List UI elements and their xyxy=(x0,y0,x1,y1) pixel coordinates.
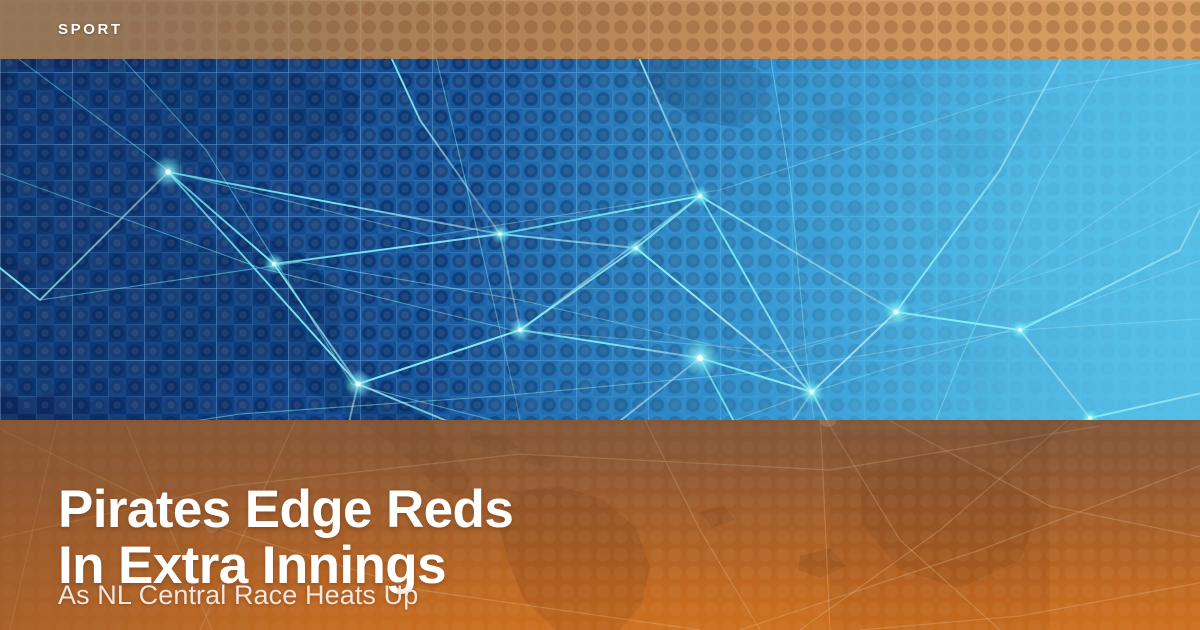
page-subtitle: As NL Central Race Heats Up xyxy=(58,578,418,612)
category-kicker-label: SPORT xyxy=(58,0,123,59)
category-bar-left-fade xyxy=(0,0,1200,59)
category-bar xyxy=(0,0,1200,59)
social-share-card: SPORT xyxy=(0,0,1200,630)
page-title: Pirates Edge Reds In Extra Innings xyxy=(58,482,513,594)
